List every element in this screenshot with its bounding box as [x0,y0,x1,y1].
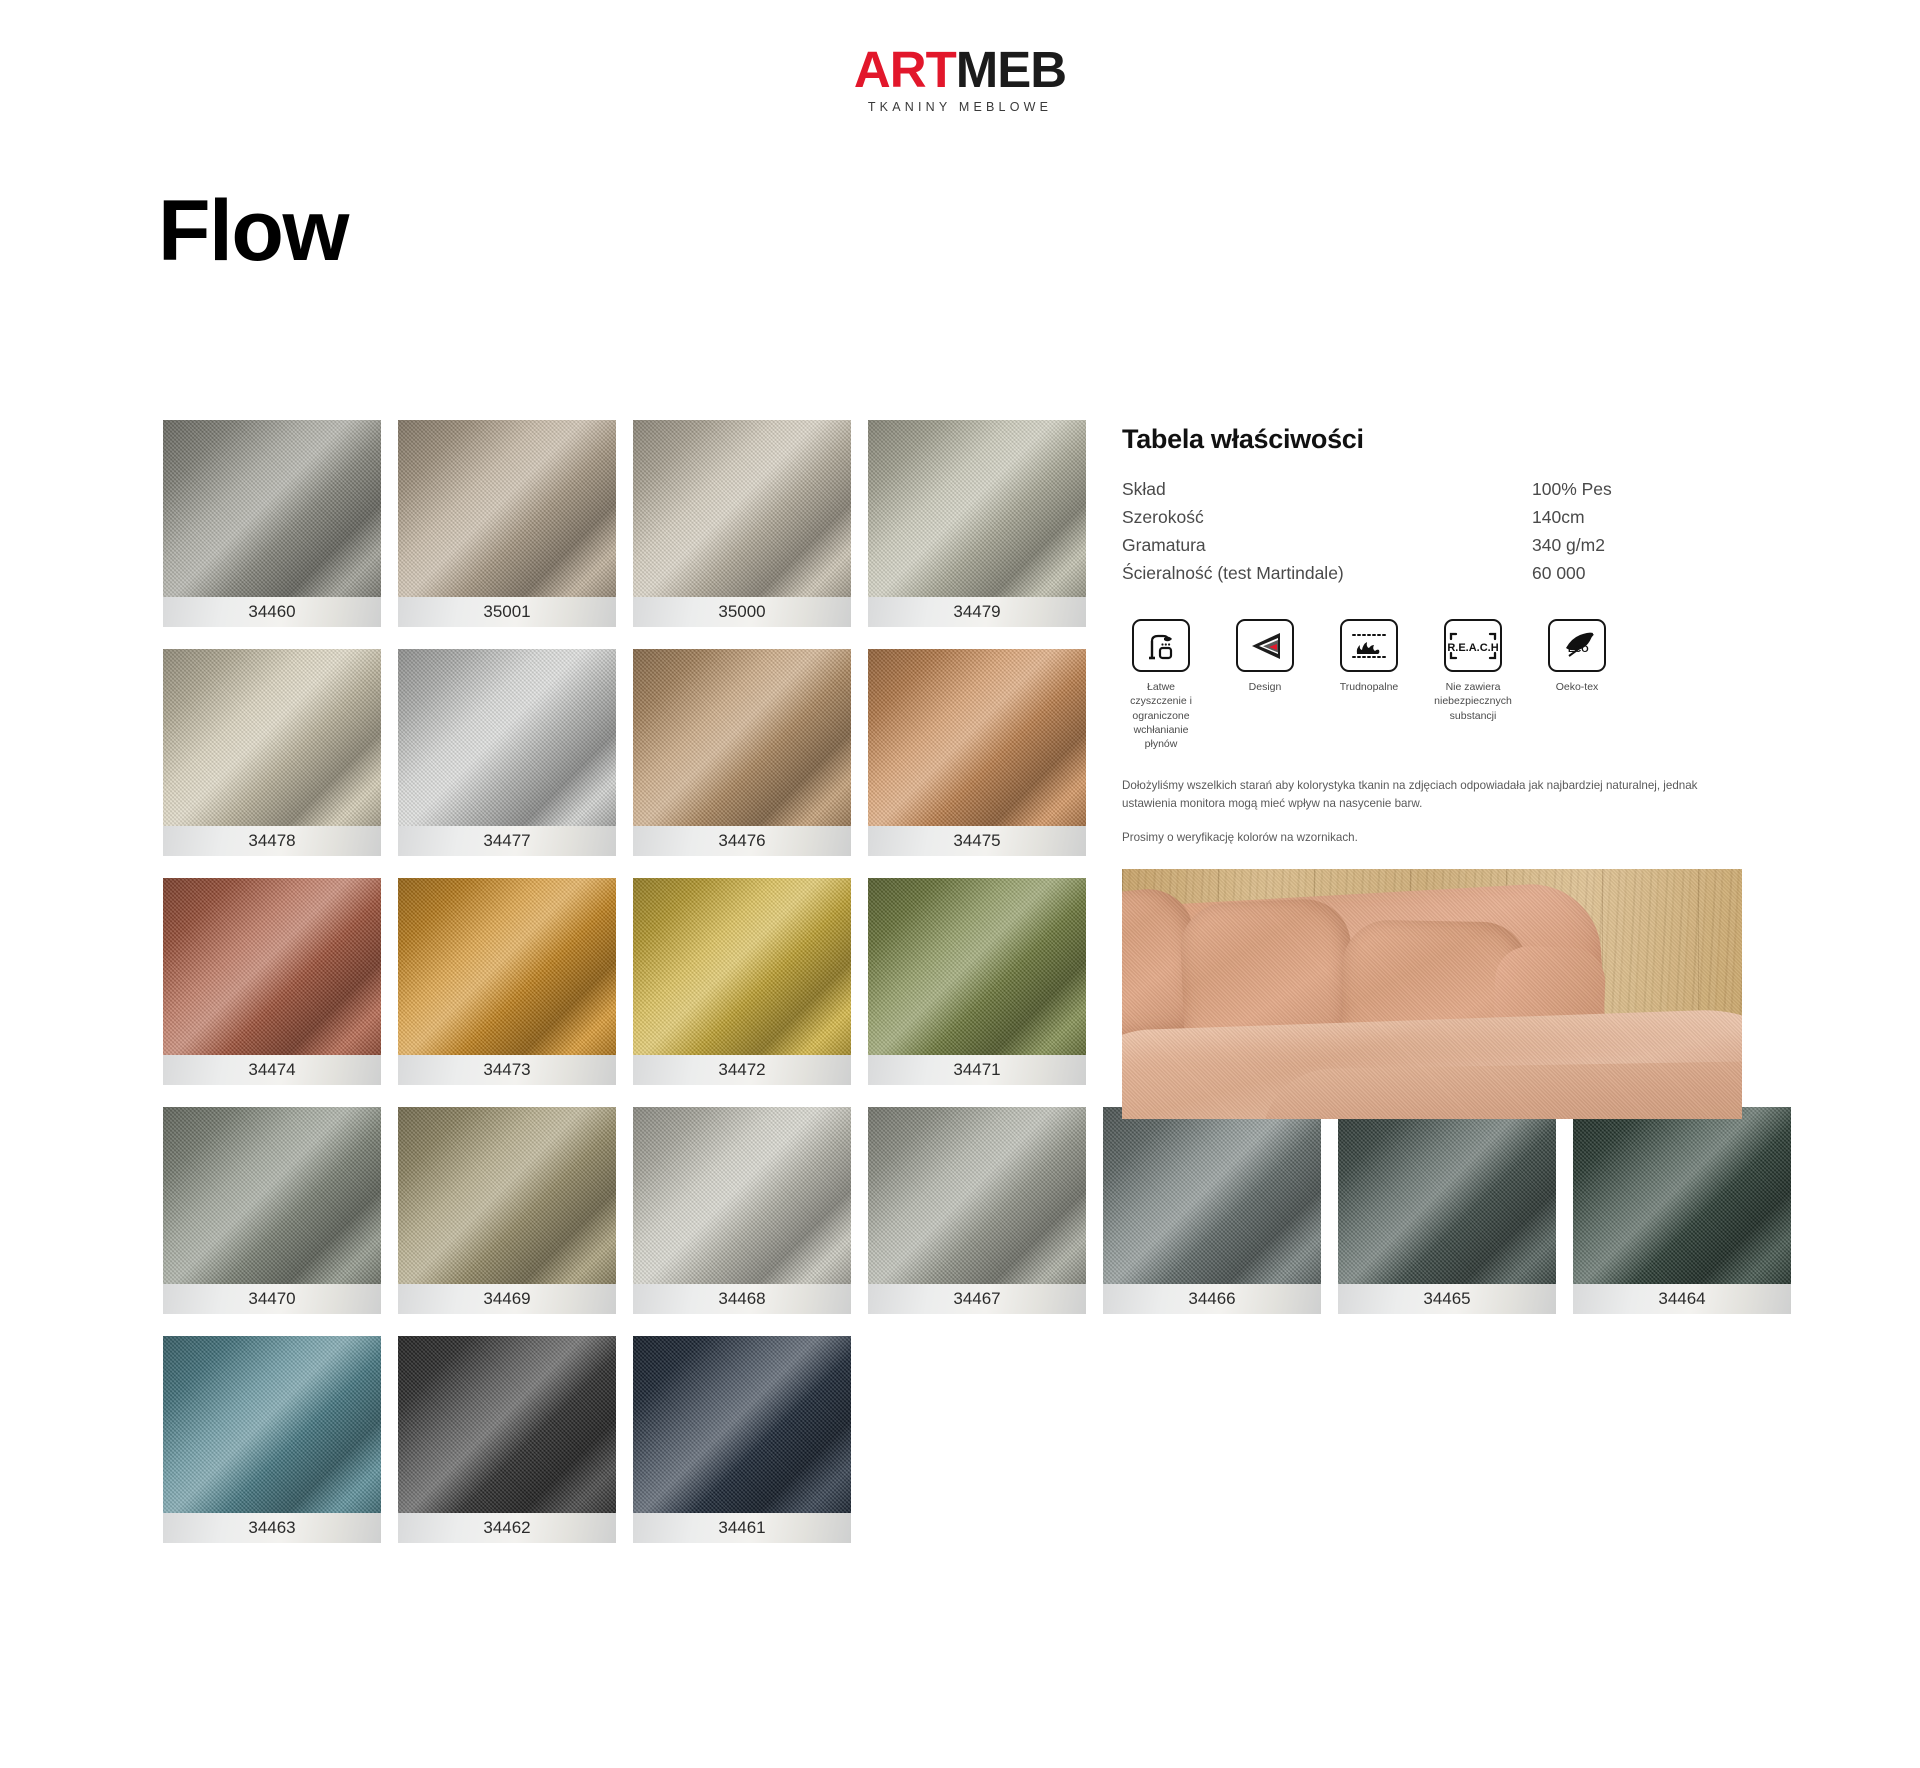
fabric-swatch[interactable]: 34464 [1573,1107,1791,1314]
certification-icon-cell[interactable]: R.E.A.C.HNie zawiera niebezpiecznych sub… [1434,619,1512,751]
fabric-swatch-image [398,878,616,1055]
fabric-fold-shading [1103,1107,1321,1284]
fabric-swatch-image [633,1107,851,1284]
fabric-swatch[interactable]: 34461 [633,1336,851,1543]
svg-text:ECO: ECO [1568,644,1589,655]
fabric-swatch-image [1338,1107,1556,1284]
specification-row: Szerokość140cm [1122,505,1742,533]
fabric-fold-shading [163,1107,381,1284]
fabric-swatch-label: 34474 [163,1055,381,1085]
specification-label: Skład [1122,477,1532,505]
fabric-swatch-label: 34464 [1573,1284,1791,1314]
properties-panel: Tabela właściwości Skład100% PesSzerokoś… [1122,424,1742,1119]
fabric-swatch-label: 34478 [163,826,381,856]
swatch-row: 344633446234461 [163,1336,1263,1543]
disclaimer-paragraph-2: Prosimy o weryfikację kolorów na wzornik… [1122,829,1740,847]
fabric-swatch[interactable]: 34462 [398,1336,616,1543]
fabric-fold-shading [868,878,1086,1055]
fabric-swatch[interactable]: 34475 [868,649,1086,856]
specification-row: Skład100% Pes [1122,477,1742,505]
fabric-swatch-label: 34473 [398,1055,616,1085]
fabric-fold-shading [163,420,381,597]
fabric-swatch[interactable]: 35001 [398,420,616,627]
fabric-swatch-code: 34464 [1658,1289,1705,1308]
fabric-fold-shading [633,420,851,597]
fabric-swatch-image [163,1336,381,1513]
fabric-swatch[interactable]: 34468 [633,1107,851,1314]
fabric-swatch-label: 34466 [1103,1284,1321,1314]
fabric-swatch-image [868,1107,1086,1284]
fabric-fold-shading [398,649,616,826]
fabric-swatch-code: 34463 [248,1518,295,1537]
fabric-swatch-label: 34467 [868,1284,1086,1314]
certification-icon-caption: Nie zawiera niebezpiecznych substancji [1434,680,1512,723]
fabric-swatch-label: 34460 [163,597,381,627]
fabric-swatch[interactable]: 34472 [633,878,851,1085]
fabric-swatch-code: 34469 [483,1289,530,1308]
fabric-swatch[interactable]: 34478 [163,649,381,856]
specification-label: Gramatura [1122,533,1532,561]
fabric-swatch-image [398,649,616,826]
brand-tagline: TKANINY MEBLOWE [0,100,1920,114]
fabric-fold-shading [398,1336,616,1513]
fabric-swatch-code: 34461 [718,1518,765,1537]
fabric-swatch-image [163,649,381,826]
swatch-row: 34478344773447634475 [163,649,1263,856]
fabric-swatch-image [633,420,851,597]
fabric-fold-shading [868,420,1086,597]
fabric-fold-shading [163,878,381,1055]
fabric-swatch-label: 34476 [633,826,851,856]
fabric-swatch-code: 34467 [953,1289,1000,1308]
disclaimer-paragraph-1: Dołożyliśmy wszelkich starań aby kolorys… [1122,777,1740,813]
fabric-swatch-code: 34474 [248,1060,295,1079]
specification-value: 340 g/m2 [1532,533,1742,561]
fabric-swatch-code: 34478 [248,831,295,850]
fabric-swatch-code: 34476 [718,831,765,850]
specification-row: Ścieralność (test Martindale)60 000 [1122,561,1742,589]
room-photo [1122,869,1742,1119]
fabric-swatch[interactable]: 35000 [633,420,851,627]
fabric-swatch[interactable]: 34473 [398,878,616,1085]
fabric-swatch[interactable]: 34466 [1103,1107,1321,1314]
brand-wordmark-meb: MEB [956,41,1066,98]
fabric-swatch-image [163,1107,381,1284]
fabric-fold-shading [633,1107,851,1284]
fabric-swatch-label: 34463 [163,1513,381,1543]
fabric-fold-shading [398,420,616,597]
certification-icon-caption: Trudnopalne [1330,680,1408,694]
fabric-swatch[interactable]: 34474 [163,878,381,1085]
fabric-fold-shading [163,649,381,826]
fabric-swatch-label: 34470 [163,1284,381,1314]
certification-icon-caption: Łatwe czyszczenie i ograniczone wchłania… [1122,680,1200,751]
fabric-swatch[interactable]: 34470 [163,1107,381,1314]
svg-text:R.E.A.C.H: R.E.A.C.H [1448,642,1498,654]
fabric-swatch-label: 34472 [633,1055,851,1085]
fabric-swatch-label: 35000 [633,597,851,627]
brand-wordmark: ARTMEB [854,44,1066,95]
flame-retardant-icon [1340,619,1398,672]
fabric-swatch-image [398,420,616,597]
fabric-fold-shading [163,1336,381,1513]
certification-icon-cell[interactable]: Łatwe czyszczenie i ograniczone wchłania… [1122,619,1200,751]
fabric-fold-shading [633,878,851,1055]
specification-label: Szerokość [1122,505,1532,533]
fabric-swatch[interactable]: 34467 [868,1107,1086,1314]
fabric-swatch-code: 34473 [483,1060,530,1079]
certification-icon-cell[interactable]: Design [1226,619,1304,751]
fabric-swatch[interactable]: 34477 [398,649,616,856]
fabric-swatch-image [163,420,381,597]
fabric-swatch-image [868,878,1086,1055]
fabric-swatch-code: 34471 [953,1060,1000,1079]
easy-clean-icon [1132,619,1190,672]
fabric-swatch-image [868,420,1086,597]
swatch-row: 34470344693446834467344663446534464 [163,1107,1263,1314]
swatch-row: 34474344733447234471 [163,878,1263,1085]
fabric-swatch[interactable]: 34465 [1338,1107,1556,1314]
fabric-fold-shading [1573,1107,1791,1284]
specification-label: Ścieralność (test Martindale) [1122,561,1532,589]
fabric-swatch-label: 34468 [633,1284,851,1314]
fabric-swatch-image [1573,1107,1791,1284]
fabric-swatch-image [398,1336,616,1513]
specification-value: 60 000 [1532,561,1742,589]
fabric-swatch-image [1103,1107,1321,1284]
brand-wordmark-art: ART [854,41,956,98]
fabric-swatch[interactable]: 34460 [163,420,381,627]
fabric-fold-shading [398,878,616,1055]
certification-icon-cell[interactable]: Trudnopalne [1330,619,1408,751]
certification-icon-caption: Design [1226,680,1304,694]
fabric-fold-shading [398,1107,616,1284]
fabric-swatch-label: 35001 [398,597,616,627]
fabric-swatch[interactable]: 34471 [868,878,1086,1085]
certification-icon-row: Łatwe czyszczenie i ograniczone wchłania… [1122,619,1742,751]
fabric-swatch-image [868,649,1086,826]
design-icon [1236,619,1294,672]
swatch-row: 34460350013500034479 [163,420,1263,627]
fabric-swatch-code: 34466 [1188,1289,1235,1308]
fabric-swatch-code: 35001 [483,602,530,621]
fabric-swatch-code: 34472 [718,1060,765,1079]
fabric-swatch-code: 34475 [953,831,1000,850]
fabric-swatch-label: 34475 [868,826,1086,856]
specifications-table: Skład100% PesSzerokość140cmGramatura340 … [1122,477,1742,589]
fabric-fold-shading [633,649,851,826]
fabric-swatch-code: 34477 [483,831,530,850]
fabric-swatch-code: 34470 [248,1289,295,1308]
fabric-swatch-code: 34462 [483,1518,530,1537]
fabric-swatch-label: 34465 [1338,1284,1556,1314]
fabric-swatch-code: 34460 [248,602,295,621]
fabric-swatch-label: 34469 [398,1284,616,1314]
fabric-swatch-image [633,649,851,826]
specification-value: 140cm [1532,505,1742,533]
fabric-swatch[interactable]: 34463 [163,1336,381,1543]
fabric-fold-shading [1338,1107,1556,1284]
brand-logo: ARTMEB TKANINY MEBLOWE [0,44,1920,114]
fabric-swatch-image [633,1336,851,1513]
fabric-swatch-label: 34479 [868,597,1086,627]
fabric-swatch-image [398,1107,616,1284]
fabric-swatch-label: 34462 [398,1513,616,1543]
photo-sofa-seat-front [1261,1060,1742,1119]
fabric-swatch-grid: 3446035001350003447934478344773447634475… [163,420,1263,1565]
fabric-swatch[interactable]: 34479 [868,420,1086,627]
fabric-swatch-label: 34477 [398,826,616,856]
fabric-swatch-code: 34465 [1423,1289,1470,1308]
specifications-body: Skład100% PesSzerokość140cmGramatura340 … [1122,477,1742,589]
specification-value: 100% Pes [1532,477,1742,505]
fabric-swatch-code: 35000 [718,602,765,621]
fabric-swatch-code: 34479 [953,602,1000,621]
certification-icon-caption: Oeko-tex [1538,680,1616,694]
specification-row: Gramatura340 g/m2 [1122,533,1742,561]
certification-icon-cell[interactable]: ECOOeko-tex [1538,619,1616,751]
fabric-fold-shading [633,1336,851,1513]
fabric-swatch[interactable]: 34469 [398,1107,616,1314]
fabric-fold-shading [868,649,1086,826]
fabric-swatch-label: 34471 [868,1055,1086,1085]
reach-icon: R.E.A.C.H [1444,619,1502,672]
fabric-swatch-label: 34461 [633,1513,851,1543]
fabric-swatch-image [633,878,851,1055]
fabric-swatch-code: 34468 [718,1289,765,1308]
oeko-tex-icon: ECO [1548,619,1606,672]
fabric-swatch[interactable]: 34476 [633,649,851,856]
fabric-swatch-image [163,878,381,1055]
properties-heading: Tabela właściwości [1122,424,1742,455]
color-disclaimer: Dołożyliśmy wszelkich starań aby kolorys… [1122,777,1740,847]
page-title: Flow [158,188,348,274]
fabric-fold-shading [868,1107,1086,1284]
